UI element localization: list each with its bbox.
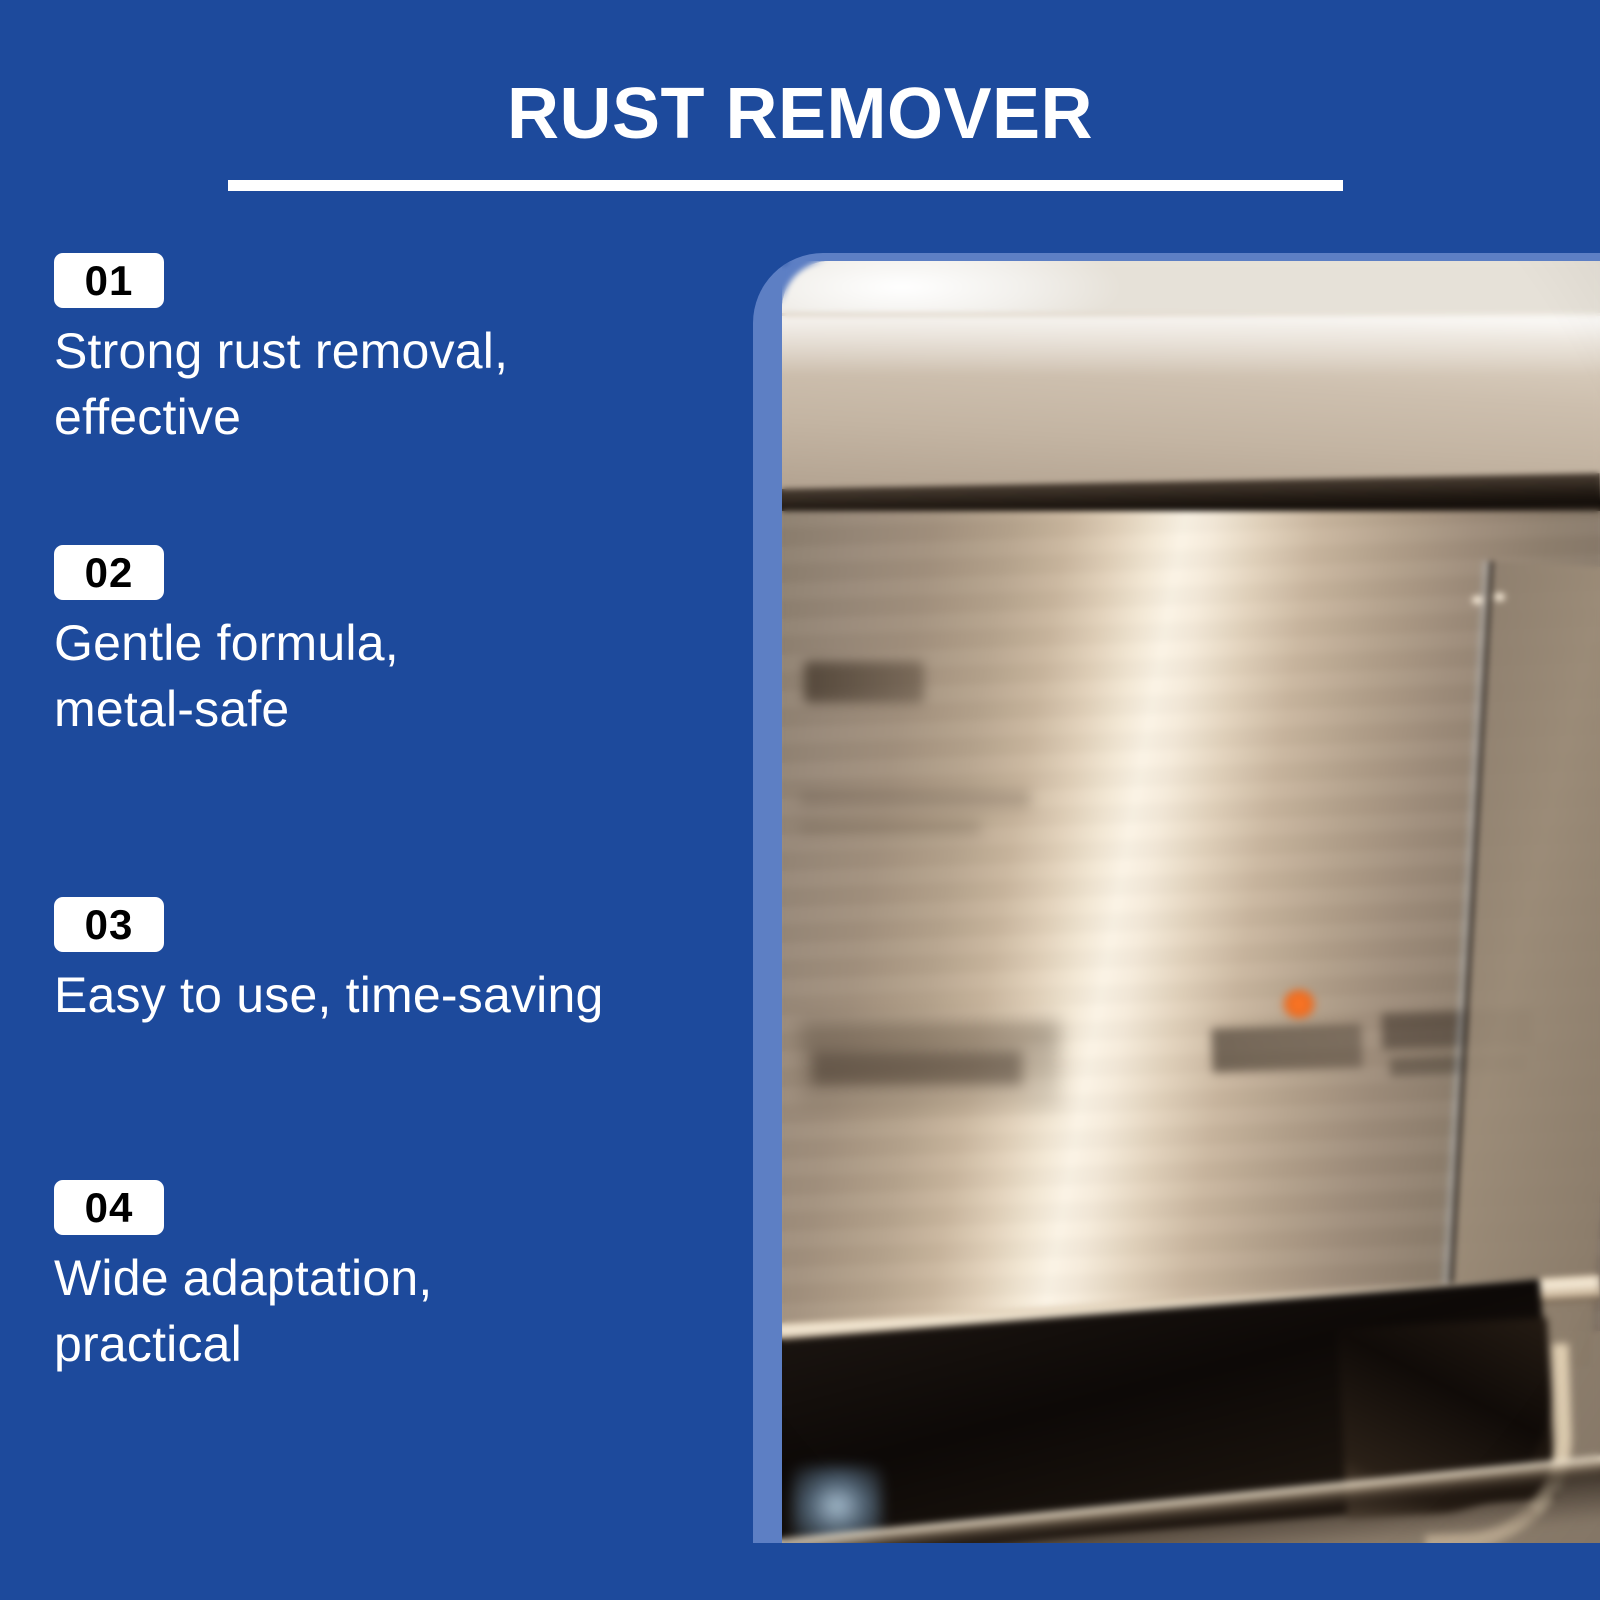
page-title: RUST REMOVER bbox=[0, 78, 1600, 150]
feature-text-03: Easy to use, time-saving bbox=[54, 962, 734, 1028]
feature-number-badge-01: 01 bbox=[54, 253, 164, 308]
feature-item-03: 03 Easy to use, time-saving bbox=[54, 897, 734, 1028]
product-image-panel bbox=[753, 253, 1600, 1543]
feature-text-01: Strong rust removal, effective bbox=[54, 318, 734, 450]
feature-number-badge-03: 03 bbox=[54, 897, 164, 952]
photo-top-panel-sheen bbox=[782, 316, 1600, 376]
feature-item-04: 04 Wide adaptation, practical bbox=[54, 1180, 734, 1377]
photo-brand-label bbox=[804, 661, 924, 703]
photo-orange-led-icon bbox=[1282, 989, 1316, 1019]
photo-light-dot-1 bbox=[1472, 596, 1483, 604]
feature-item-01: 01 Strong rust removal, effective bbox=[54, 253, 734, 450]
photo-control-label-left bbox=[1211, 1023, 1362, 1072]
feature-item-02: 02 Gentle formula, metal-safe bbox=[54, 545, 734, 742]
product-photo bbox=[782, 261, 1600, 1543]
feature-text-04: Wide adaptation, practical bbox=[54, 1245, 734, 1377]
feature-list: 01 Strong rust removal, effective 02 Gen… bbox=[0, 230, 740, 1600]
photo-text-line-1 bbox=[800, 791, 1030, 807]
header: RUST REMOVER bbox=[0, 0, 1600, 230]
feature-number-badge-04: 04 bbox=[54, 1180, 164, 1235]
feature-number-badge-02: 02 bbox=[54, 545, 164, 600]
title-divider bbox=[228, 180, 1343, 191]
feature-text-02: Gentle formula, metal-safe bbox=[54, 610, 734, 742]
photo-text-line-3 bbox=[812, 1051, 1022, 1085]
photo-text-line-2 bbox=[800, 821, 980, 835]
photo-light-dot-2 bbox=[1494, 593, 1505, 601]
